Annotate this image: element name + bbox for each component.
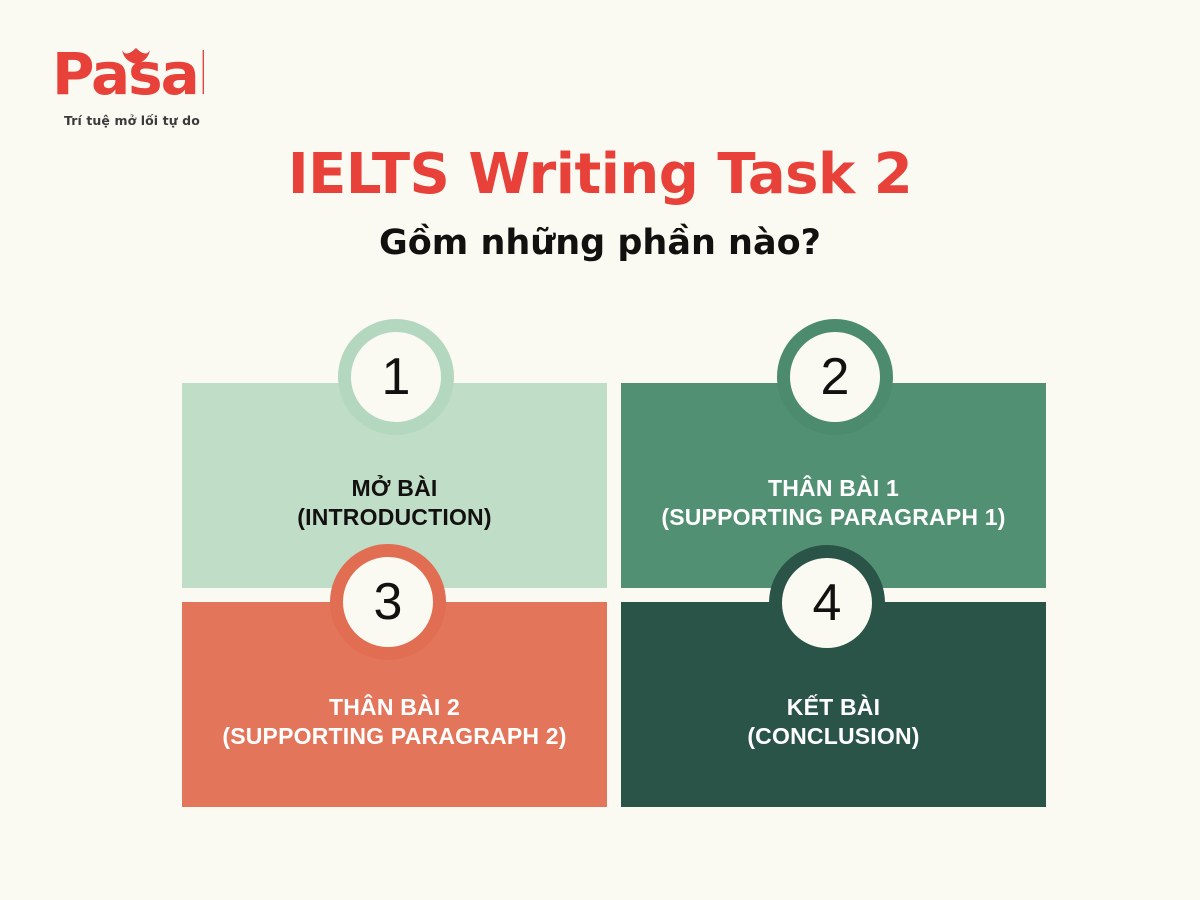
section-label-3: THÂN BÀI 2 (SUPPORTING PARAGRAPH 2) [222,693,566,750]
section-title-vi-4: KẾT BÀI [787,694,880,720]
page-title: IELTS Writing Task 2 [0,146,1200,205]
section-title-en-2: (SUPPORTING PARAGRAPH 1) [661,503,1005,531]
sections-grid: MỞ BÀI (INTRODUCTION) THÂN BÀI 1 (SUPPOR… [182,383,1046,807]
pasal-heart-mark-icon: Pasal [52,42,204,104]
logo-wordmark: Pasal [52,42,212,104]
step-badge-3: 3 [330,544,446,660]
section-title-vi-2: THÂN BÀI 1 [768,475,899,501]
svg-text:Pasal: Pasal [52,42,204,104]
section-title-vi-1: MỞ BÀI [352,475,438,501]
section-label-1: MỞ BÀI (INTRODUCTION) [297,474,491,531]
page-subtitle: Gồm những phần nào? [0,222,1200,264]
section-title-vi-3: THÂN BÀI 2 [329,694,460,720]
step-badge-4: 4 [769,545,885,661]
section-label-2: THÂN BÀI 1 (SUPPORTING PARAGRAPH 1) [661,474,1005,531]
brand-logo: Pasal Trí tuệ mở lối tự do [52,42,212,128]
infographic-canvas: Pasal Trí tuệ mở lối tự do IELTS Writing… [0,0,1200,900]
logo-tagline: Trí tuệ mở lối tự do [64,113,212,128]
step-badge-2: 2 [777,319,893,435]
section-title-en-3: (SUPPORTING PARAGRAPH 2) [222,722,566,750]
step-badge-1: 1 [338,319,454,435]
section-label-4: KẾT BÀI (CONCLUSION) [747,693,919,750]
section-title-en-4: (CONCLUSION) [747,722,919,750]
section-title-en-1: (INTRODUCTION) [297,503,491,531]
